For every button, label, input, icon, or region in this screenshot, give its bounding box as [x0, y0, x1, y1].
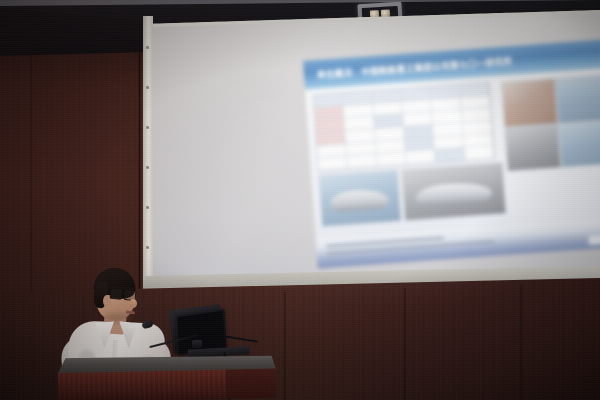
slide-table-cell	[435, 148, 465, 163]
lower-seam-4	[520, 284, 522, 400]
slide-photo-ship-render	[501, 78, 558, 128]
slide-photo-equipment	[558, 120, 600, 167]
ceiling-light-bulb	[381, 9, 390, 18]
slide-photo-vessel	[504, 124, 561, 172]
screen-frame-screw	[146, 206, 149, 209]
screen-frame-screw	[146, 126, 149, 129]
slide-table-cell	[406, 150, 436, 165]
slide-table-cell	[377, 152, 407, 167]
slide-footer-logo	[588, 235, 600, 245]
slide-spec-table	[312, 82, 495, 173]
screen-frame-screw	[146, 86, 149, 89]
projection-screen-surface: 单位概况 · 中国船舶重工集团公司第七〇一研究所	[153, 14, 600, 284]
projected-slide: 单位概况 · 中国船舶重工集团公司第七〇一研究所	[303, 40, 600, 269]
slide-photo-ship-shape	[415, 181, 492, 206]
lower-seam-2	[284, 292, 286, 400]
screen-frame-screw	[146, 46, 149, 49]
glasses-left-lens	[110, 288, 123, 300]
lectern-side-panel	[226, 366, 277, 399]
projection-screen-frame-left	[143, 16, 153, 288]
conference-presentation-photo: 单位概况 · 中国船舶重工集团公司第七〇一研究所	[0, 0, 600, 400]
microphone-base	[192, 340, 202, 348]
slide-photo-diagram	[555, 75, 600, 124]
slide-table-cell	[318, 156, 348, 171]
slide-table-cell	[347, 154, 377, 169]
slide-photo-hull-center	[401, 162, 506, 221]
slide-table-cell	[464, 146, 494, 161]
screen-frame-screw	[146, 246, 149, 249]
presenter-chin-shadow	[104, 313, 132, 323]
slide-photo-hull-left	[318, 169, 402, 227]
presenter-nose	[130, 299, 137, 308]
slide-body	[305, 68, 600, 239]
slide-photo-ship-shape	[329, 188, 389, 212]
lectern	[58, 354, 277, 400]
screen-frame-screw	[146, 166, 149, 169]
lower-seam-3	[404, 288, 406, 400]
